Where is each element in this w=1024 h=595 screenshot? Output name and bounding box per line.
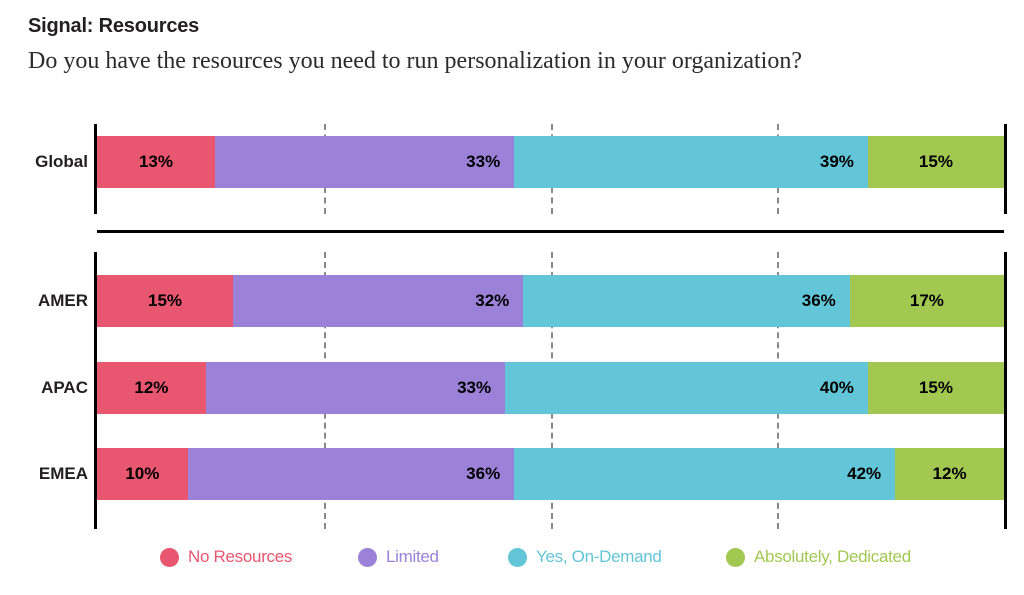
- legend-item[interactable]: No Resources: [160, 547, 292, 567]
- legend-label: No Resources: [188, 547, 292, 567]
- bar-segment: 15%: [868, 136, 1004, 188]
- legend-swatch-icon: [726, 548, 745, 567]
- bar-segment-value: 33%: [206, 378, 505, 398]
- right-axis-line-group-1: [1004, 252, 1007, 529]
- bar-row: 12%33%40%15%: [97, 362, 1004, 414]
- bar-segment: 39%: [514, 136, 868, 188]
- stacked-bar-chart: Global13%33%39%15%AMER15%32%36%17%APAC12…: [0, 112, 1024, 532]
- group-divider: [97, 230, 1004, 233]
- bar-segment-value: 36%: [523, 291, 850, 311]
- row-label-amer: AMER: [8, 275, 88, 327]
- bar-segment: 10%: [97, 448, 188, 500]
- bar-segment-value: 39%: [514, 152, 868, 172]
- bar-segment-value: 15%: [97, 291, 233, 311]
- bar-segment-value: 13%: [97, 152, 215, 172]
- bar-segment-value: 40%: [505, 378, 868, 398]
- bar-segment: 13%: [97, 136, 215, 188]
- legend-swatch-icon: [160, 548, 179, 567]
- legend-item[interactable]: Yes, On-Demand: [508, 547, 662, 567]
- legend-item[interactable]: Limited: [358, 547, 439, 567]
- bar-segment: 15%: [97, 275, 233, 327]
- bar-segment: 12%: [97, 362, 206, 414]
- bar-segment: 15%: [868, 362, 1004, 414]
- bar-segment: 42%: [514, 448, 895, 500]
- row-label-emea: EMEA: [8, 448, 88, 500]
- page-title: Signal: Resources: [28, 14, 998, 38]
- bar-segment: 33%: [215, 136, 514, 188]
- bar-row: 13%33%39%15%: [97, 136, 1004, 188]
- bar-segment-value: 15%: [868, 378, 1004, 398]
- row-label-global: Global: [8, 136, 88, 188]
- bar-segment: 17%: [850, 275, 1004, 327]
- legend-swatch-icon: [508, 548, 527, 567]
- bar-segment-value: 32%: [233, 291, 523, 311]
- legend-label: Absolutely, Dedicated: [754, 547, 911, 567]
- bar-row: 10%36%42%12%: [97, 448, 1004, 500]
- chart-subtitle: Do you have the resources you need to ru…: [28, 46, 998, 76]
- bar-segment-value: 33%: [215, 152, 514, 172]
- legend-item[interactable]: Absolutely, Dedicated: [726, 547, 911, 567]
- bar-segment-value: 10%: [97, 464, 188, 484]
- bar-segment-value: 42%: [514, 464, 895, 484]
- bar-segment: 33%: [206, 362, 505, 414]
- bar-segment-value: 36%: [188, 464, 515, 484]
- row-label-apac: APAC: [8, 362, 88, 414]
- legend-label: Limited: [386, 547, 439, 567]
- bar-segment-value: 12%: [895, 464, 1004, 484]
- bar-segment: 36%: [188, 448, 515, 500]
- bar-segment: 40%: [505, 362, 868, 414]
- bar-segment: 12%: [895, 448, 1004, 500]
- chart-header: Signal: Resources Do you have the resour…: [28, 14, 998, 76]
- bar-segment-value: 17%: [850, 291, 1004, 311]
- legend-label: Yes, On-Demand: [536, 547, 662, 567]
- bar-segment: 32%: [233, 275, 523, 327]
- bar-segment-value: 12%: [97, 378, 206, 398]
- right-axis-line-group-0: [1004, 124, 1007, 214]
- bar-segment-value: 15%: [868, 152, 1004, 172]
- bar-row: 15%32%36%17%: [97, 275, 1004, 327]
- legend-swatch-icon: [358, 548, 377, 567]
- bar-segment: 36%: [523, 275, 850, 327]
- chart-legend: No ResourcesLimitedYes, On-DemandAbsolut…: [97, 540, 1004, 574]
